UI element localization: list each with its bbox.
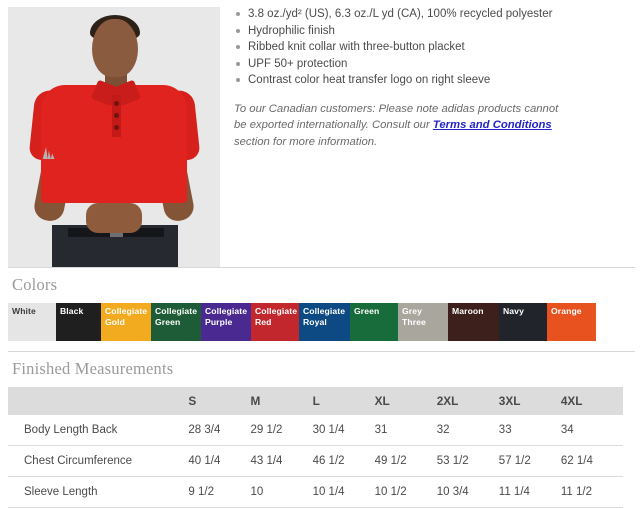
color-swatch-orange[interactable]: Orange (547, 303, 596, 341)
spec-text: Contrast color heat transfer logo on rig… (248, 74, 490, 86)
colors-heading: Colors (8, 268, 635, 303)
cell-xl: 10 1/2 (375, 477, 437, 508)
specs-column: 3.8 oz./yd² (US), 6.3 oz./L yd (CA), 100… (220, 0, 643, 161)
color-swatch-collegiate-gold[interactable]: Collegiate Gold (101, 303, 151, 341)
color-swatch-label: Orange (551, 306, 594, 317)
cell-l: 10 1/4 (313, 477, 375, 508)
cell-l: 30 1/4 (313, 415, 375, 446)
cell-3xl: 33 (499, 415, 561, 446)
cell-l: 46 1/2 (313, 446, 375, 477)
column-header-blank (8, 387, 188, 415)
cell-xl: 49 1/2 (375, 446, 437, 477)
spec-text: 3.8 oz./yd² (US), 6.3 oz./L yd (CA), 100… (248, 8, 552, 20)
bullet-icon (236, 12, 240, 16)
list-item: Ribbed knit collar with three-button pla… (234, 39, 635, 56)
row-label: Chest Circumference (8, 446, 188, 477)
color-swatch-grey-three[interactable]: Grey Three (398, 303, 448, 341)
bullet-icon (236, 62, 240, 66)
list-item: Contrast color heat transfer logo on rig… (234, 72, 635, 89)
column-header-xl: XL (375, 387, 437, 415)
color-swatch-label: Collegiate Gold (105, 306, 149, 328)
polo-button-3 (114, 125, 119, 130)
table-header-row: S M L XL 2XL 3XL 4XL (8, 387, 623, 415)
color-swatch-label: Collegiate Green (155, 306, 199, 328)
cell-s: 40 1/4 (188, 446, 250, 477)
canadian-customers-note: To our Canadian customers: Please note a… (234, 101, 564, 150)
color-swatch-label: Collegiate Royal (303, 306, 348, 328)
spec-bullet-list: 3.8 oz./yd² (US), 6.3 oz./L yd (CA), 100… (234, 6, 635, 89)
color-swatch-navy[interactable]: Navy (499, 303, 547, 341)
cell-xl: 31 (375, 415, 437, 446)
product-image[interactable] (8, 7, 220, 267)
color-swatch-label: Collegiate Red (255, 306, 297, 328)
bullet-icon (236, 29, 240, 33)
table-row: Chest Circumference 40 1/4 43 1/4 46 1/2… (8, 446, 623, 477)
color-swatch-maroon[interactable]: Maroon (448, 303, 499, 341)
list-item: UPF 50+ protection (234, 56, 635, 73)
column-header-2xl: 2XL (437, 387, 499, 415)
cell-2xl: 32 (437, 415, 499, 446)
color-swatch-collegiate-red[interactable]: Collegiate Red (251, 303, 299, 341)
color-swatch-label: Navy (503, 306, 545, 317)
color-swatch-collegiate-purple[interactable]: Collegiate Purple (201, 303, 251, 341)
column-header-s: S (188, 387, 250, 415)
model-head (92, 19, 138, 77)
table-row: Sleeve Length 9 1/2 10 10 1/4 10 1/2 10 … (8, 477, 623, 508)
color-swatch-label: Collegiate Purple (205, 306, 249, 328)
color-swatch-row: White Black Collegiate Gold Collegiate G… (8, 303, 643, 341)
terms-and-conditions-link[interactable]: Terms and Conditions (433, 119, 552, 131)
bullet-icon (236, 78, 240, 82)
model-hands (86, 203, 142, 233)
cell-m: 43 1/4 (250, 446, 312, 477)
list-item: Hydrophilic finish (234, 23, 635, 40)
cell-4xl: 34 (561, 415, 623, 446)
cell-4xl: 62 1/4 (561, 446, 623, 477)
column-header-4xl: 4XL (561, 387, 623, 415)
spec-text: Ribbed knit collar with three-button pla… (248, 41, 465, 53)
list-item: 3.8 oz./yd² (US), 6.3 oz./L yd (CA), 100… (234, 6, 635, 23)
table-row: Body Length Back 28 3/4 29 1/2 30 1/4 31… (8, 415, 623, 446)
table-body: Body Length Back 28 3/4 29 1/2 30 1/4 31… (8, 415, 623, 508)
cell-m: 29 1/2 (250, 415, 312, 446)
cell-m: 10 (250, 477, 312, 508)
color-swatch-label: Green (354, 306, 396, 317)
color-swatch-white[interactable]: White (8, 303, 56, 341)
color-swatch-label: White (12, 306, 54, 317)
measurements-heading: Finished Measurements (8, 352, 635, 387)
cell-2xl: 10 3/4 (437, 477, 499, 508)
cell-3xl: 57 1/2 (499, 446, 561, 477)
color-swatch-label: Maroon (452, 306, 497, 317)
color-swatch-collegiate-green[interactable]: Collegiate Green (151, 303, 201, 341)
color-swatch-label: Grey Three (402, 306, 446, 328)
measurements-section: Finished Measurements (0, 352, 643, 387)
bullet-icon (236, 45, 240, 49)
spec-text: UPF 50+ protection (248, 58, 347, 70)
finished-measurements-table: S M L XL 2XL 3XL 4XL Body Length Back 28… (8, 387, 623, 508)
column-header-3xl: 3XL (499, 387, 561, 415)
color-swatch-green[interactable]: Green (350, 303, 398, 341)
product-overview: 3.8 oz./yd² (US), 6.3 oz./L yd (CA), 100… (0, 0, 643, 267)
colors-section: Colors (0, 268, 643, 303)
column-header-m: M (250, 387, 312, 415)
polo-button-2 (114, 113, 119, 118)
spec-text: Hydrophilic finish (248, 25, 335, 37)
color-swatch-collegiate-royal[interactable]: Collegiate Royal (299, 303, 350, 341)
color-swatch-black[interactable]: Black (56, 303, 101, 341)
cell-2xl: 53 1/2 (437, 446, 499, 477)
row-label: Sleeve Length (8, 477, 188, 508)
note-text-after-link: section for more information. (234, 136, 377, 148)
column-header-l: L (313, 387, 375, 415)
row-label: Body Length Back (8, 415, 188, 446)
polo-button-1 (114, 101, 119, 106)
cell-3xl: 11 1/4 (499, 477, 561, 508)
color-swatch-label: Black (60, 306, 99, 317)
cell-s: 9 1/2 (188, 477, 250, 508)
table-header: S M L XL 2XL 3XL 4XL (8, 387, 623, 415)
cell-s: 28 3/4 (188, 415, 250, 446)
cell-4xl: 11 1/2 (561, 477, 623, 508)
